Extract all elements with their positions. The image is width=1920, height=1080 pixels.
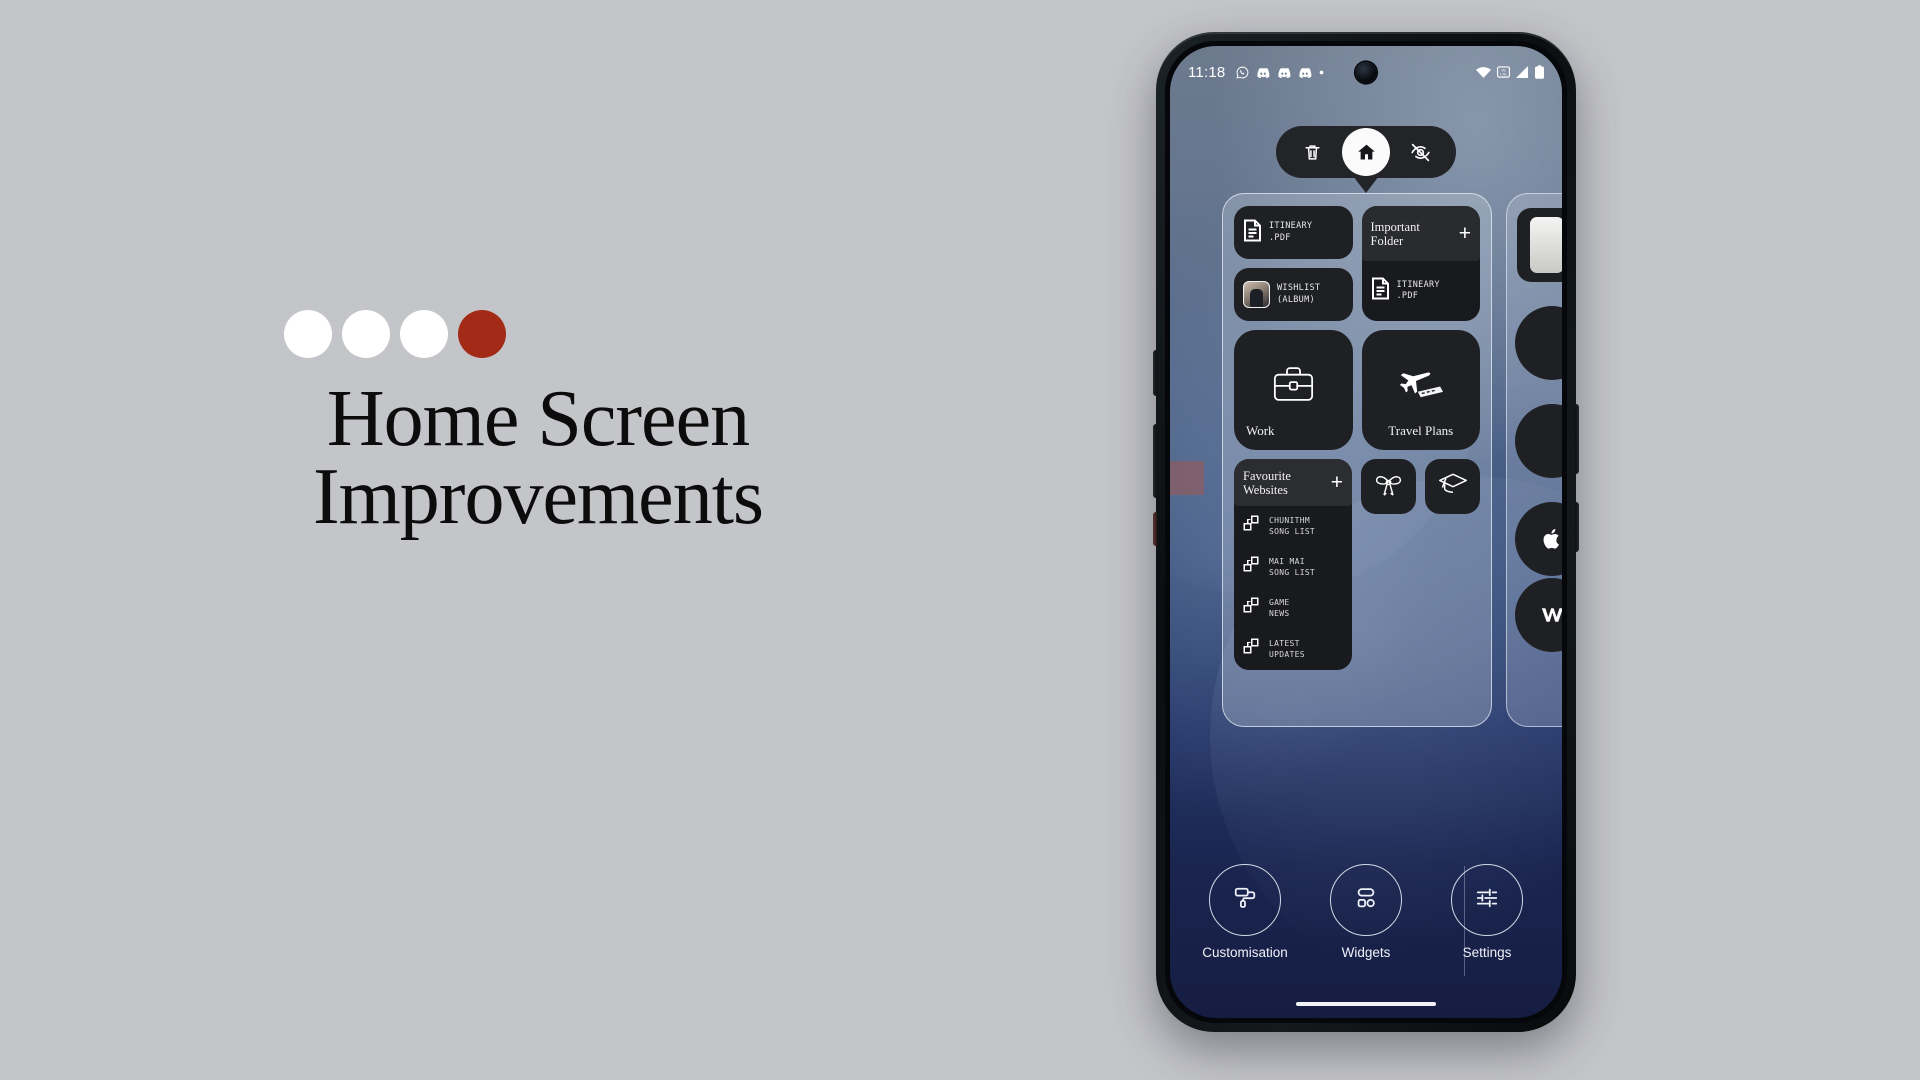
file-tiles-column: ITINEARY .PDF WISHLIST (ALBUM) xyxy=(1234,206,1353,321)
whatsapp-icon xyxy=(1236,66,1249,79)
sliders-icon xyxy=(1474,885,1500,916)
phone-side-button-accent[interactable] xyxy=(1153,512,1157,546)
dot-4 xyxy=(458,310,506,358)
page-edit-toolbar xyxy=(1276,126,1456,178)
favourite-label: GAME NEWS xyxy=(1269,598,1289,619)
status-bar-left: 11:18 xyxy=(1188,64,1324,81)
favourites-header[interactable]: Favourite Websites + xyxy=(1234,459,1352,506)
plus-icon[interactable]: + xyxy=(1331,472,1343,493)
phone-device: 11:18 xyxy=(1156,32,1576,1032)
phone-power-button[interactable] xyxy=(1575,404,1579,474)
slide-canvas: Home Screen Improvements 11:18 xyxy=(0,0,1920,1080)
phone-side-button-top[interactable] xyxy=(1153,350,1157,396)
education-shortcut[interactable] xyxy=(1425,459,1480,514)
peek-widget-card[interactable] xyxy=(1517,208,1562,282)
mai-mai-song-list-item[interactable]: MAI MAI SONG LIST xyxy=(1234,547,1352,588)
widgets-icon xyxy=(1353,885,1379,916)
peek-app-2[interactable] xyxy=(1515,404,1562,478)
category-label: Work xyxy=(1246,423,1341,439)
pixel-link-icon xyxy=(1243,515,1261,538)
pixel-document-icon xyxy=(1243,219,1262,247)
chunithm-song-list-item[interactable]: CHUNITHM SONG LIST xyxy=(1234,506,1352,547)
wishlist-album-tile[interactable]: WISHLIST (ALBUM) xyxy=(1234,268,1353,321)
set-home-button[interactable] xyxy=(1342,128,1390,176)
volte-icon: Vo LTE xyxy=(1497,66,1510,78)
plus-icon[interactable]: + xyxy=(1459,223,1471,244)
settings-circle[interactable] xyxy=(1451,864,1523,936)
bottom-dock: Customisation Widg xyxy=(1170,864,1562,960)
favourite-websites-widget[interactable]: Favourite Websites + CH xyxy=(1234,459,1352,670)
next-page-peek[interactable] xyxy=(1506,193,1562,727)
phone-screen: 11:18 xyxy=(1170,46,1562,1018)
graduation-cap-icon xyxy=(1438,471,1468,502)
work-tile[interactable]: Work xyxy=(1234,330,1353,450)
title-block: Home Screen Improvements xyxy=(282,310,882,537)
discord-icon xyxy=(1256,67,1270,78)
peek-app-apple[interactable] xyxy=(1515,502,1562,576)
favourite-label: MAI MAI SONG LIST xyxy=(1269,557,1315,578)
top-widget-zone: ITINEARY .PDF WISHLIST (ALBUM) Important… xyxy=(1234,206,1480,321)
dock-label: Widgets xyxy=(1342,945,1391,960)
briefcase-icon xyxy=(1246,344,1341,423)
status-time: 11:18 xyxy=(1188,64,1225,81)
hide-page-button[interactable] xyxy=(1398,130,1442,174)
bow-shortcut[interactable] xyxy=(1361,459,1416,514)
dock-label: Customisation xyxy=(1202,945,1288,960)
dot-3 xyxy=(400,310,448,358)
dot-row xyxy=(282,310,882,358)
front-camera xyxy=(1356,62,1377,83)
toolbar-pointer xyxy=(1353,176,1379,193)
pixel-document-icon xyxy=(1371,277,1390,305)
ribbon-bow-icon xyxy=(1373,471,1404,503)
category-row: Work Travel Plans xyxy=(1234,330,1480,450)
peek-card-surface xyxy=(1530,217,1562,273)
status-bar-right: Vo LTE xyxy=(1476,65,1544,79)
category-label: Travel Plans xyxy=(1374,423,1469,439)
pixel-link-icon xyxy=(1243,597,1261,620)
folder-header[interactable]: Important Folder + xyxy=(1362,206,1481,261)
wallpaper-accent xyxy=(1170,461,1204,495)
dot-indicator xyxy=(1319,70,1324,75)
favourite-label: LATEST UPDATES xyxy=(1269,639,1305,660)
signal-icon xyxy=(1516,66,1529,78)
latest-updates-item[interactable]: LATEST UPDATES xyxy=(1234,629,1352,670)
phone-volume-button[interactable] xyxy=(1575,502,1579,552)
discord-icon xyxy=(1277,67,1291,78)
file-label: ITINEARY .PDF xyxy=(1269,221,1312,243)
file-label: WISHLIST (ALBUM) xyxy=(1277,283,1320,305)
peek-app-4[interactable] xyxy=(1515,578,1562,652)
widget-page[interactable]: ITINEARY .PDF WISHLIST (ALBUM) Important… xyxy=(1222,193,1492,727)
mini-shortcuts xyxy=(1361,459,1480,670)
file-label: ITINEARY .PDF xyxy=(1397,280,1440,302)
customisation-button[interactable]: Customisation xyxy=(1199,864,1291,960)
phone-side-button-mid[interactable] xyxy=(1153,424,1157,498)
folder-title: Important Folder xyxy=(1371,220,1420,248)
favourites-row: Favourite Websites + CH xyxy=(1234,459,1480,670)
airplane-ticket-icon xyxy=(1374,344,1469,423)
peek-app-1[interactable] xyxy=(1515,306,1562,380)
battery-icon xyxy=(1535,65,1544,79)
delete-button[interactable] xyxy=(1290,130,1334,174)
settings-button[interactable]: Settings xyxy=(1441,864,1533,960)
travel-plans-tile[interactable]: Travel Plans xyxy=(1362,330,1481,450)
important-folder-widget[interactable]: Important Folder + ITINE xyxy=(1362,206,1481,321)
itineary-pdf-tile[interactable]: ITINEARY .PDF xyxy=(1234,206,1353,259)
dock-label: Settings xyxy=(1463,945,1512,960)
favourites-title: Favourite Websites xyxy=(1243,469,1291,497)
pixel-link-icon xyxy=(1243,638,1261,661)
game-news-item[interactable]: GAME NEWS xyxy=(1234,588,1352,629)
folder-item[interactable]: ITINEARY .PDF xyxy=(1362,261,1481,321)
dot-1 xyxy=(284,310,332,358)
paint-roller-icon xyxy=(1232,885,1258,916)
favourite-label: CHUNITHM SONG LIST xyxy=(1269,516,1315,537)
wifi-icon xyxy=(1476,67,1491,78)
svg-text:LTE: LTE xyxy=(1500,73,1507,77)
phone-bezel: 11:18 xyxy=(1165,41,1567,1023)
widgets-circle[interactable] xyxy=(1330,864,1402,936)
album-thumbnail xyxy=(1243,281,1270,308)
gesture-bar[interactable] xyxy=(1296,1002,1436,1007)
pixel-link-icon xyxy=(1243,556,1261,579)
discord-icon xyxy=(1298,67,1312,78)
widgets-button[interactable]: Widgets xyxy=(1320,864,1412,960)
dot-2 xyxy=(342,310,390,358)
customisation-circle[interactable] xyxy=(1209,864,1281,936)
page-title: Home Screen Improvements xyxy=(278,380,798,537)
